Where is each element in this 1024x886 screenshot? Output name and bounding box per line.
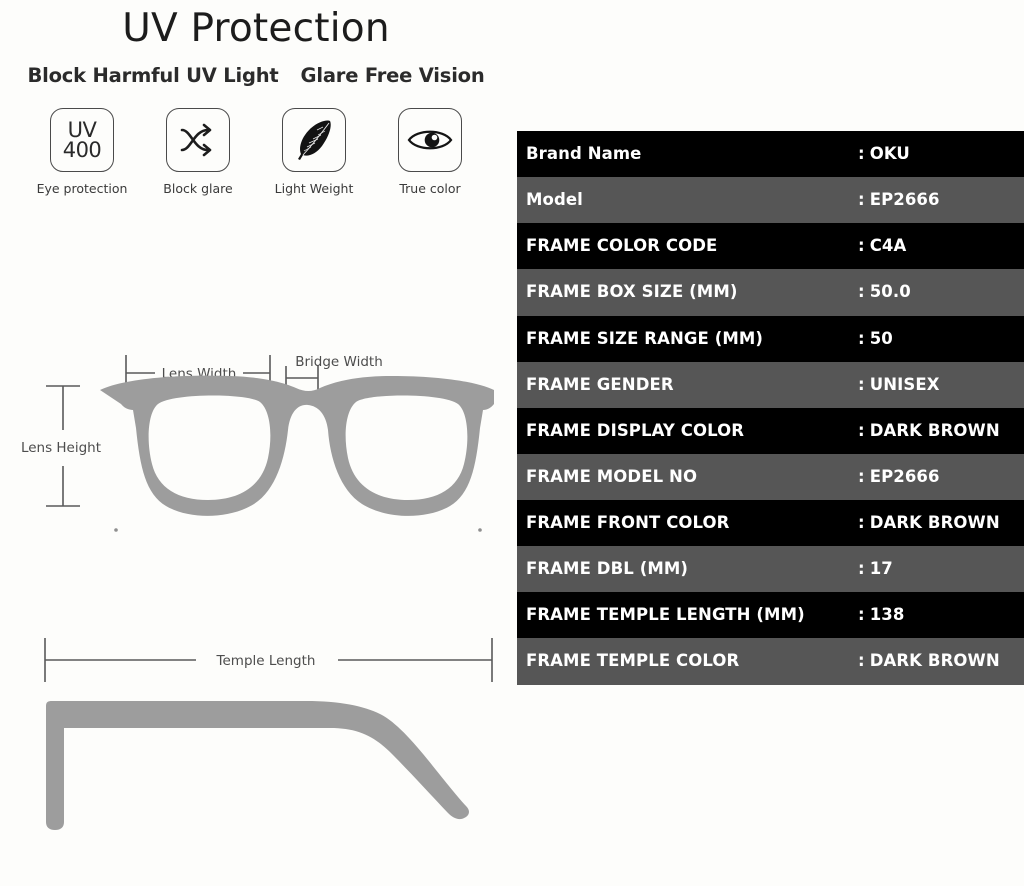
table-row: FRAME COLOR CODE :C4A [517, 223, 1024, 269]
spec-value-text: C4A [870, 236, 907, 255]
spec-key: FRAME SIZE RANGE (MM) [517, 316, 858, 362]
spec-key: FRAME MODEL NO [517, 454, 858, 500]
colon-separator: : [858, 467, 870, 486]
subtitle-glare-free: Glare Free Vision [301, 64, 485, 87]
spec-value-text: EP2666 [870, 467, 940, 486]
table-row: FRAME TEMPLE COLOR :DARK BROWN [517, 638, 1024, 684]
colon-separator: : [858, 375, 870, 394]
spec-value: :EP2666 [858, 454, 1024, 500]
spec-value: :50.0 [858, 269, 1024, 315]
spec-value-text: OKU [870, 144, 910, 163]
table-row: FRAME TEMPLE LENGTH (MM) :138 [517, 592, 1024, 638]
table-row: FRAME DISPLAY COLOR :DARK BROWN [517, 408, 1024, 454]
spec-key: FRAME DBL (MM) [517, 546, 858, 592]
table-row: FRAME FRONT COLOR :DARK BROWN [517, 500, 1024, 546]
spec-value: :50 [858, 316, 1024, 362]
eye-icon [398, 108, 462, 172]
spec-value-text: 50.0 [870, 282, 911, 301]
product-spec-sheet: UV Protection Block Harmful UV Light Gla… [0, 0, 1024, 886]
uv-protection-panel: UV Protection Block Harmful UV Light Gla… [0, 0, 512, 886]
spec-value-text: DARK BROWN [870, 513, 1000, 532]
spec-value-text: 138 [870, 605, 905, 624]
table-row: Brand Name :OKU [517, 131, 1024, 177]
feature-light-weight: Light Weight [275, 108, 353, 196]
spec-value: :DARK BROWN [858, 638, 1024, 684]
colon-separator: : [858, 190, 870, 209]
feather-icon [282, 108, 346, 172]
spec-value-text: 17 [870, 559, 893, 578]
feature-caption: Block glare [163, 181, 232, 196]
feature-eye-protection: UV 400 Eye protection [43, 108, 121, 196]
spec-key: FRAME COLOR CODE [517, 223, 858, 269]
colon-separator: : [858, 651, 870, 670]
spec-key: FRAME DISPLAY COLOR [517, 408, 858, 454]
spec-key: FRAME TEMPLE COLOR [517, 638, 858, 684]
subtitle-row: Block Harmful UV Light Glare Free Vision [0, 64, 512, 87]
spec-value: :DARK BROWN [858, 500, 1024, 546]
table-row: FRAME GENDER :UNISEX [517, 362, 1024, 408]
uv400-icon: UV 400 [50, 108, 114, 172]
feature-block-glare: Block glare [159, 108, 237, 196]
spec-value: :UNISEX [858, 362, 1024, 408]
temple-arm-shape [46, 701, 469, 830]
eyeglass-front-diagram: Lens Width Bridge Width Lens Height [0, 318, 512, 568]
table-row: FRAME DBL (MM) :17 [517, 546, 1024, 592]
colon-separator: : [858, 144, 870, 163]
spec-key: Model [517, 177, 858, 223]
colon-separator: : [858, 329, 870, 348]
table-row: FRAME MODEL NO :EP2666 [517, 454, 1024, 500]
spec-value-text: EP2666 [870, 190, 940, 209]
spec-key: FRAME TEMPLE LENGTH (MM) [517, 592, 858, 638]
spec-value-text: DARK BROWN [870, 651, 1000, 670]
spec-value: :EP2666 [858, 177, 1024, 223]
lens-height-label: Lens Height [21, 440, 101, 456]
colon-separator: : [858, 559, 870, 578]
eyeglass-temple-diagram: Temple Length [0, 618, 512, 868]
uv400-line2: 400 [63, 140, 102, 160]
feature-caption: Eye protection [37, 181, 128, 196]
spec-value: :138 [858, 592, 1024, 638]
feature-icon-row: UV 400 Eye protection Block glare [0, 108, 512, 196]
spec-value: :17 [858, 546, 1024, 592]
spec-key: FRAME BOX SIZE (MM) [517, 269, 858, 315]
colon-separator: : [858, 282, 870, 301]
spec-table-body: Brand Name :OKU Model :EP2666 FRAME COLO… [517, 131, 1024, 685]
subtitle-block-uv: Block Harmful UV Light [27, 64, 278, 87]
spec-value: :DARK BROWN [858, 408, 1024, 454]
frame-front-shape [100, 376, 494, 516]
shuffle-arrows-icon [166, 108, 230, 172]
bridge-width-label: Bridge Width [295, 354, 383, 370]
specification-table: Brand Name :OKU Model :EP2666 FRAME COLO… [517, 131, 1024, 685]
feature-true-color: True color [391, 108, 469, 196]
feature-caption: True color [399, 181, 460, 196]
colon-separator: : [858, 513, 870, 532]
spec-key: FRAME GENDER [517, 362, 858, 408]
table-row: FRAME SIZE RANGE (MM) :50 [517, 316, 1024, 362]
spec-value-text: DARK BROWN [870, 421, 1000, 440]
table-row: Model :EP2666 [517, 177, 1024, 223]
spec-value: :C4A [858, 223, 1024, 269]
spec-value-text: UNISEX [870, 375, 940, 394]
colon-separator: : [858, 236, 870, 255]
colon-separator: : [858, 605, 870, 624]
table-row: FRAME BOX SIZE (MM) :50.0 [517, 269, 1024, 315]
spec-key: FRAME FRONT COLOR [517, 500, 858, 546]
colon-separator: : [858, 421, 870, 440]
spec-key: Brand Name [517, 131, 858, 177]
spec-value: :OKU [858, 131, 1024, 177]
page-title: UV Protection [0, 6, 512, 51]
uv400-line1: UV [63, 120, 102, 140]
spec-value-text: 50 [870, 329, 893, 348]
temple-length-label: Temple Length [216, 653, 316, 669]
feature-caption: Light Weight [275, 181, 354, 196]
